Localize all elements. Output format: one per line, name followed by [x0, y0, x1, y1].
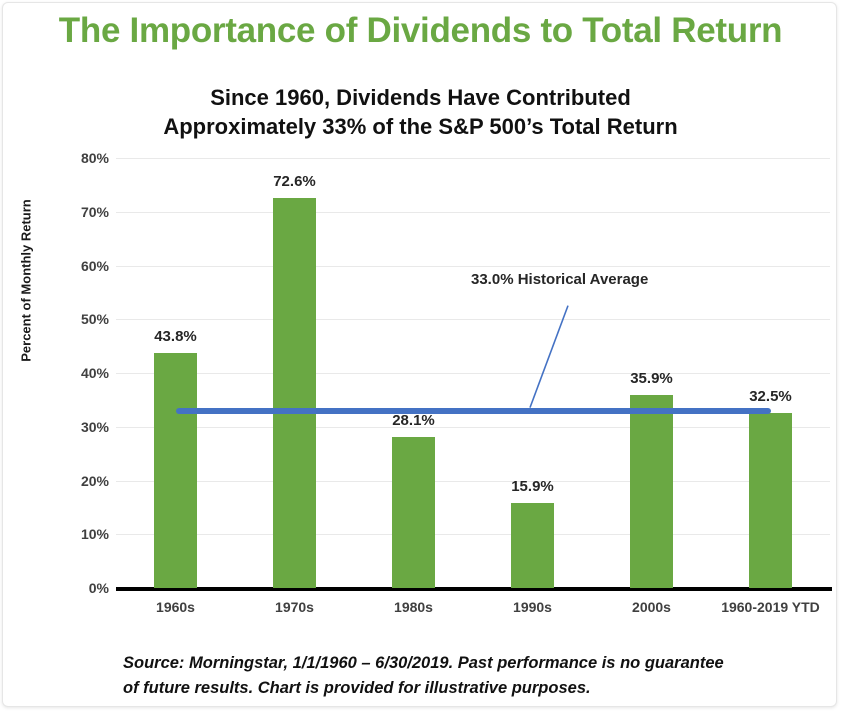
source-footnote-line-2: of future results. Chart is provided for…: [123, 676, 823, 701]
plot-area: 43.8%72.6%28.1%15.9%35.9%32.5%33.0% Hist…: [116, 158, 830, 588]
y-axis-tick-label: 50%: [49, 311, 109, 327]
y-axis-tick-label: 60%: [49, 258, 109, 274]
y-axis-title: Percent of Monthly Return: [19, 186, 34, 376]
y-axis-tick-label: 10%: [49, 526, 109, 542]
x-axis-category-label: 1960-2019 YTD: [701, 599, 838, 615]
y-axis-tick-label: 40%: [49, 365, 109, 381]
chart-subtitle-line-1: Since 1960, Dividends Have Contributed: [3, 83, 837, 112]
source-footnote: Source: Morningstar, 1/1/1960 – 6/30/201…: [123, 651, 823, 701]
source-footnote-line-1: Source: Morningstar, 1/1/1960 – 6/30/201…: [123, 651, 823, 676]
y-axis-tick-label: 70%: [49, 204, 109, 220]
y-axis-tick-label: 20%: [49, 473, 109, 489]
y-axis-tick-label: 80%: [49, 150, 109, 166]
y-axis-tick-label: 30%: [49, 419, 109, 435]
y-axis-tick-label: 0%: [49, 580, 109, 596]
chart-card: The Importance of Dividends to Total Ret…: [2, 2, 837, 707]
chart-subtitle-line-2: Approximately 33% of the S&P 500’s Total…: [3, 112, 837, 141]
annotation-leader-line: [116, 158, 830, 588]
page-title: The Importance of Dividends to Total Ret…: [3, 11, 837, 51]
chart-subtitle: Since 1960, Dividends Have Contributed A…: [3, 83, 837, 141]
y-axis-ticks: 0%10%20%30%40%50%60%70%80%: [43, 158, 109, 588]
historical-average-annotation: 33.0% Historical Average: [471, 271, 648, 288]
